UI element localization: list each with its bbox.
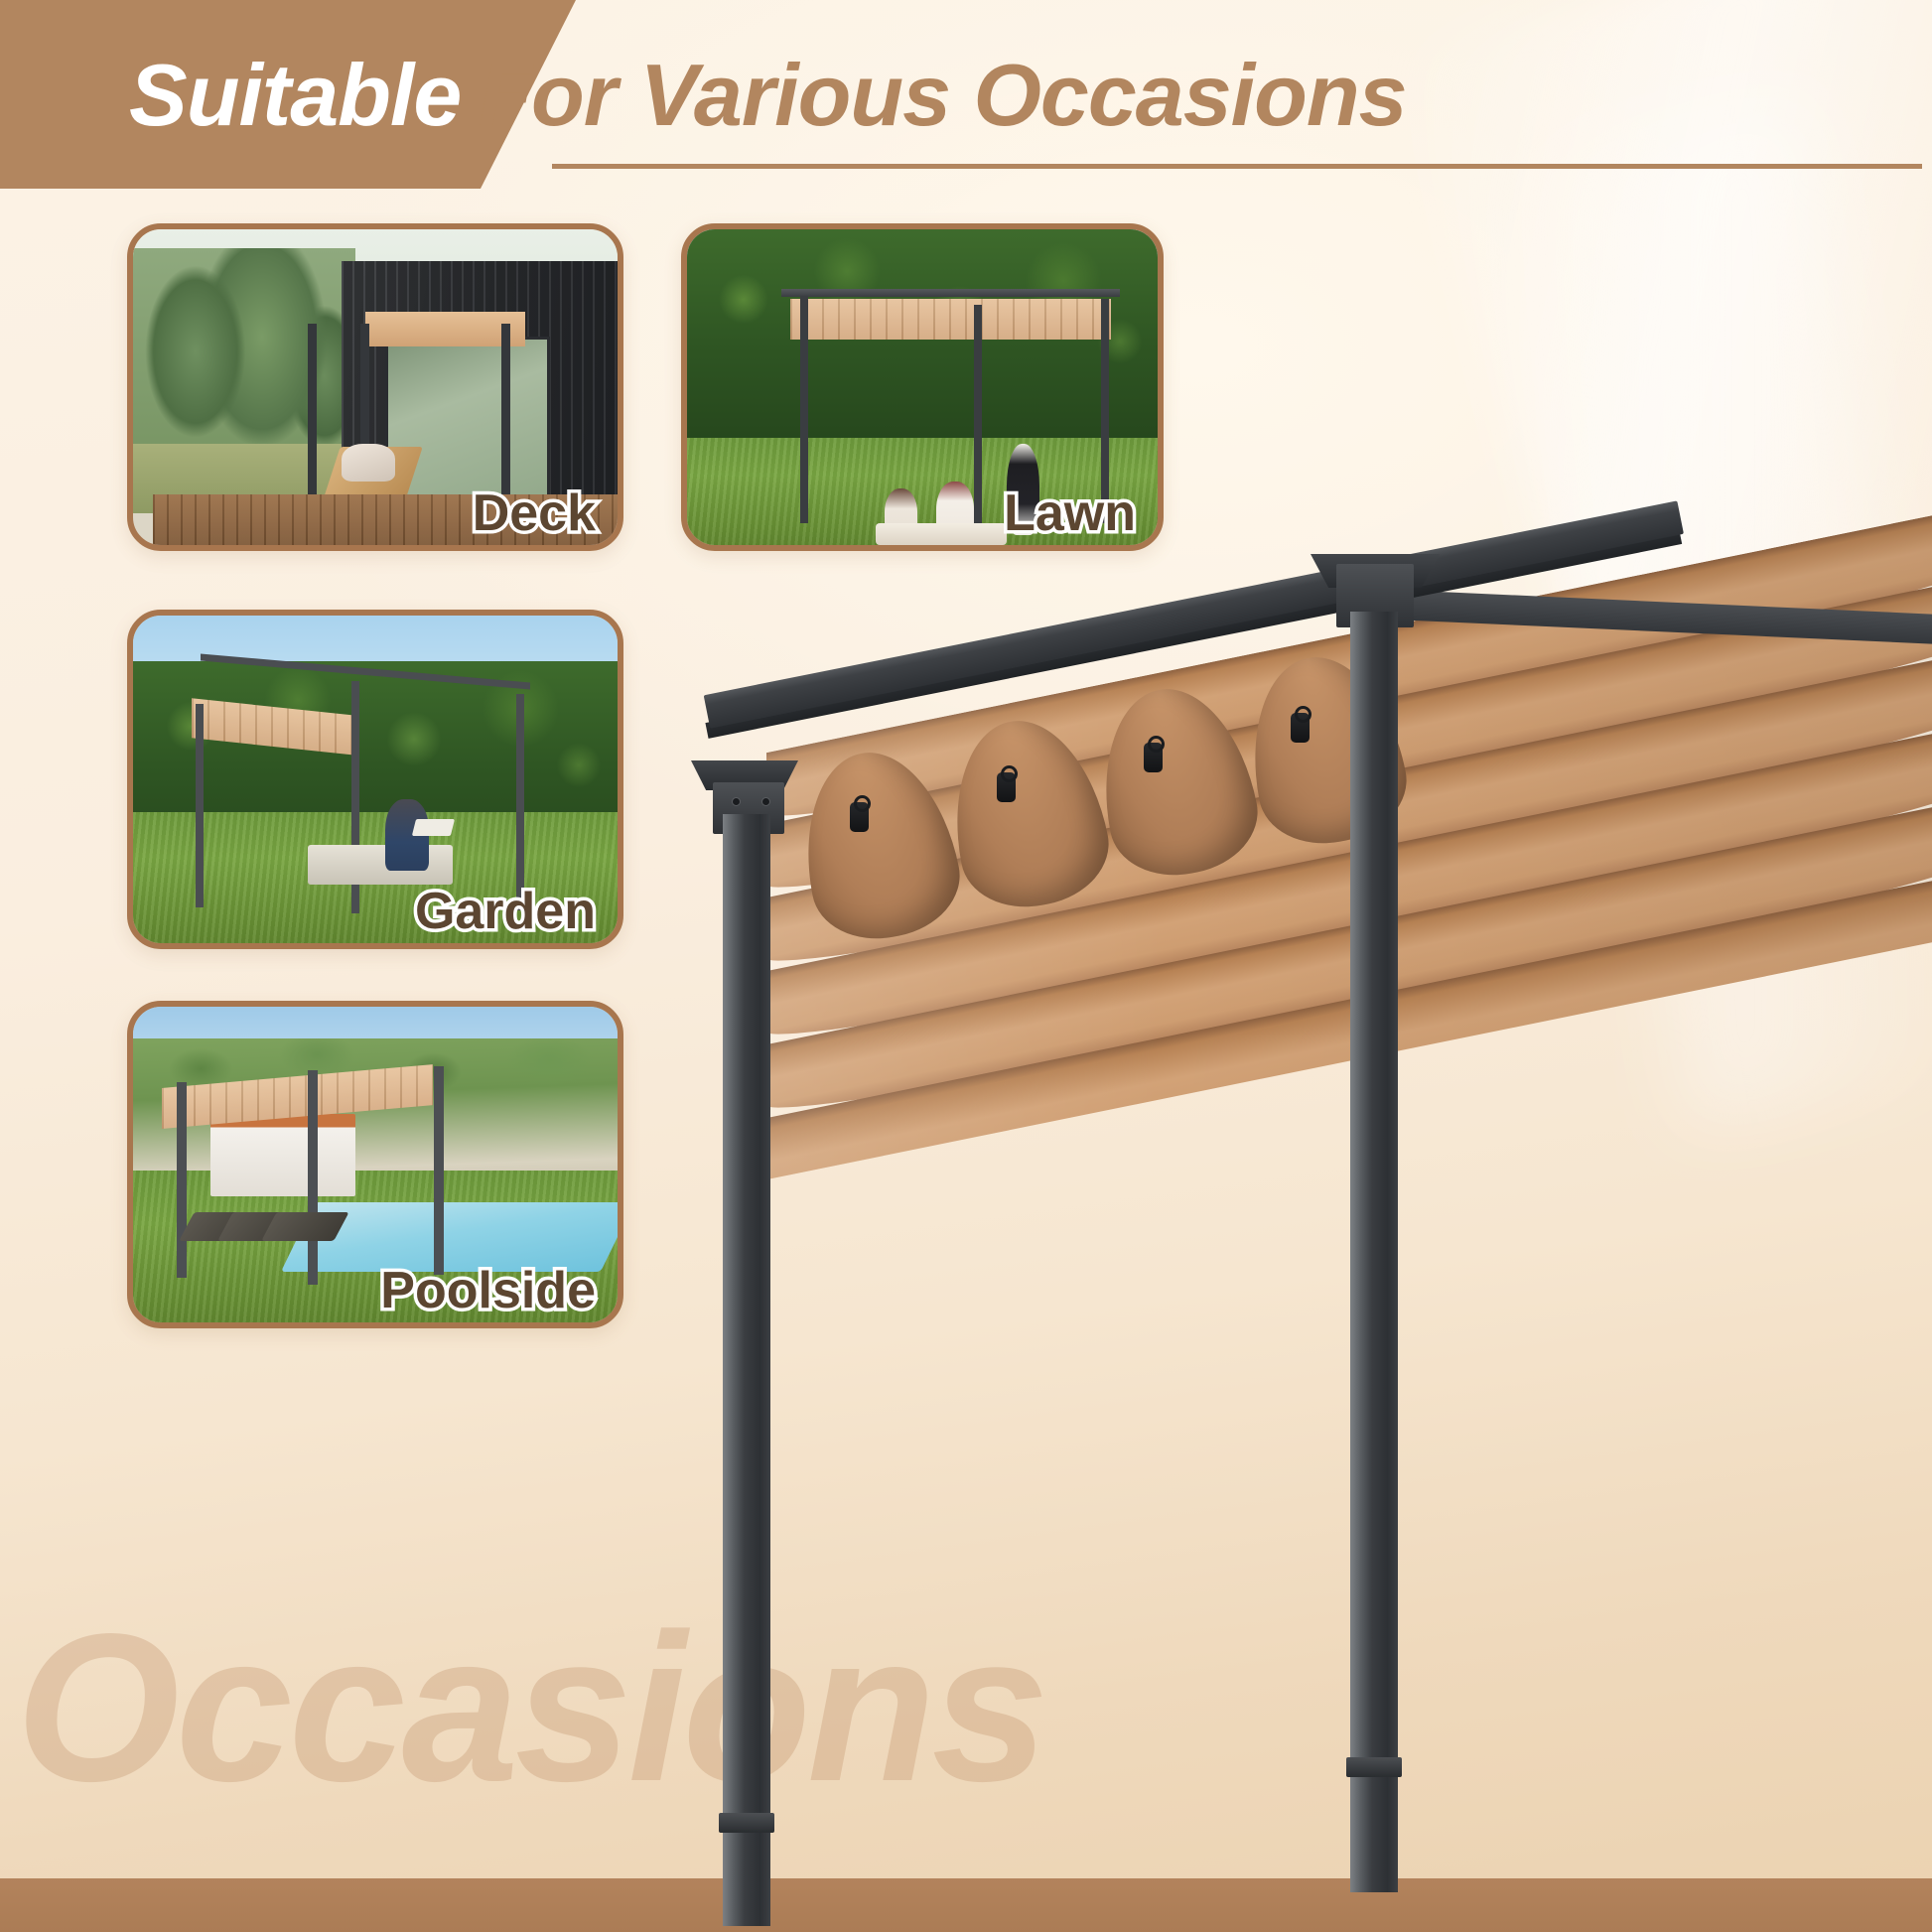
occasion-card-poolside[interactable]: Poolside: [127, 1001, 623, 1328]
page-title: SuitableFor Various Occasions: [129, 38, 1407, 153]
poolside-pergola-post: [177, 1082, 187, 1278]
title-highlight-word: Suitable: [129, 46, 461, 144]
deck-pergola-post: [308, 324, 317, 506]
canopy-clip: [1144, 743, 1163, 772]
garden-laptop: [412, 819, 455, 836]
deck-pergola-post: [501, 324, 510, 506]
product-pergola: [655, 536, 1932, 1926]
card-label-garden: Garden: [415, 882, 596, 941]
header-divider-rule: [552, 164, 1922, 169]
post-bolt: [762, 798, 769, 805]
lawn-pergola-canopy: [790, 299, 1110, 340]
garden-pergola-post: [516, 694, 524, 910]
canopy-clip: [850, 802, 869, 832]
poolside-lounger: [261, 1212, 348, 1241]
header: SuitableFor Various Occasions: [0, 0, 1932, 199]
occasion-card-deck[interactable]: Deck: [127, 223, 623, 551]
occasion-card-lawn[interactable]: Lawn: [681, 223, 1164, 551]
poolside-villa: [210, 1114, 355, 1196]
post-bolt: [733, 798, 740, 805]
pergola-post-left: [723, 814, 770, 1926]
title-rest-words: For Various Occasions: [479, 46, 1406, 144]
post-collar-left: [719, 1813, 774, 1833]
poster-canvas: Occasions SuitableFor Various Occasions …: [0, 0, 1932, 1932]
lawn-pergola-post: [800, 296, 808, 523]
garden-bench: [308, 845, 453, 885]
lawn-tree-line: [687, 229, 1158, 463]
lawn-pergola-post: [974, 305, 982, 522]
canopy-clip: [1291, 713, 1310, 743]
poolside-pergola-post: [434, 1066, 444, 1275]
card-label-deck: Deck: [473, 483, 596, 543]
deck-person-reading: [342, 444, 395, 482]
post-collar-right: [1346, 1757, 1402, 1777]
occasion-card-garden[interactable]: Garden: [127, 610, 623, 949]
poolside-pergola-post: [308, 1070, 318, 1285]
card-label-lawn: Lawn: [1004, 483, 1136, 543]
lawn-pergola-beam: [781, 289, 1120, 297]
garden-pergola-post: [196, 704, 204, 907]
pergola-post-right: [1350, 612, 1398, 1892]
lawn-canopy-folds: [790, 299, 1110, 340]
card-label-poolside: Poolside: [380, 1261, 596, 1320]
canopy-clip: [997, 772, 1016, 802]
